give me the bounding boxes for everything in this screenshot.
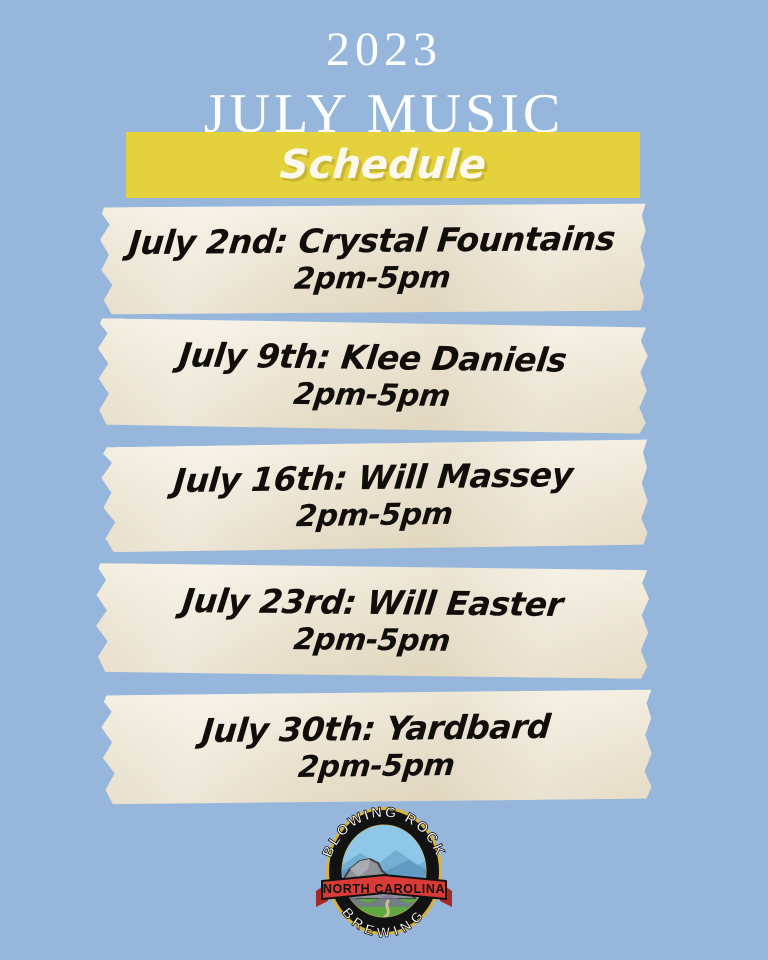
blowing-rock-brewing-logo-icon: BLOWING ROCK BREWING NORTH CAROLINA xyxy=(304,803,464,945)
schedule-item: July 23rd: Will Easter 2pm-5pm xyxy=(93,563,650,679)
logo-ribbon-text: NORTH CAROLINA xyxy=(323,882,445,896)
schedule-item-title: July 2nd: Crystal Fountains xyxy=(127,222,616,261)
schedule-item-time: 2pm-5pm xyxy=(293,262,452,295)
schedule-item-time: 2pm-5pm xyxy=(295,498,454,532)
schedule-item-title: July 9th: Klee Daniels xyxy=(177,338,568,378)
schedule-item: July 30th: Yardbard 2pm-5pm xyxy=(99,689,652,806)
poster-canvas: 2023 JULY MUSIC Schedule July 2nd: Cryst… xyxy=(0,0,768,960)
schedule-item: July 16th: Will Massey 2pm-5pm xyxy=(99,439,649,554)
schedule-item-title: July 23rd: Will Easter xyxy=(180,584,564,623)
poster-year: 2023 xyxy=(0,26,768,74)
schedule-item: July 2nd: Crystal Fountains 2pm-5pm xyxy=(98,203,647,316)
schedule-item-title: July 16th: Will Massey xyxy=(173,458,575,499)
schedule-item: July 9th: Klee Daniels 2pm-5pm xyxy=(95,318,648,434)
schedule-banner-label: Schedule xyxy=(278,142,487,188)
schedule-item-title: July 30th: Yardbard xyxy=(200,710,552,749)
schedule-item-time: 2pm-5pm xyxy=(292,378,452,412)
schedule-item-time: 2pm-5pm xyxy=(292,624,452,657)
brewery-logo: BLOWING ROCK BREWING NORTH CAROLINA xyxy=(304,803,464,945)
schedule-banner: Schedule xyxy=(126,132,640,198)
schedule-item-time: 2pm-5pm xyxy=(297,750,456,783)
poster-header: 2023 JULY MUSIC xyxy=(0,0,768,142)
